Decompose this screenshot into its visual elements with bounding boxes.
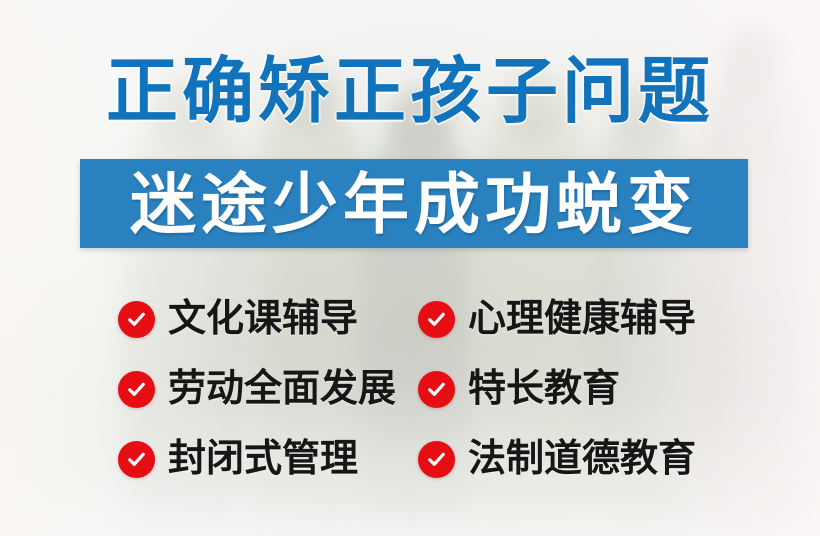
feature-label: 封闭式管理	[168, 440, 358, 478]
feature-item: 封闭式管理	[118, 440, 418, 478]
poster-content: 正确矫正孩子问题 迷途少年成功蜕变 文化课辅导 心理健康辅导	[0, 0, 820, 536]
feature-label: 法制道德教育	[468, 440, 696, 478]
feature-item: 特长教育	[418, 370, 728, 408]
check-circle-icon	[418, 441, 455, 478]
check-circle-icon	[418, 371, 455, 408]
feature-label: 心理健康辅导	[468, 300, 696, 338]
feature-label: 文化课辅导	[168, 300, 358, 338]
feature-item: 法制道德教育	[418, 440, 728, 478]
headline-primary: 正确矫正孩子问题	[0, 56, 820, 128]
headline-banner-text: 迷途少年成功蜕变	[130, 171, 698, 237]
check-circle-icon	[118, 371, 155, 408]
feature-list: 文化课辅导 心理健康辅导 劳动全面发展	[118, 284, 728, 494]
promo-poster: 正确矫正孩子问题 迷途少年成功蜕变 文化课辅导 心理健康辅导	[0, 0, 820, 536]
feature-label: 特长教育	[468, 370, 620, 408]
feature-label: 劳动全面发展	[168, 370, 396, 408]
headline-banner: 迷途少年成功蜕变	[80, 159, 748, 248]
check-circle-icon	[118, 301, 155, 338]
feature-item: 文化课辅导	[118, 300, 418, 338]
check-circle-icon	[118, 441, 155, 478]
feature-item: 劳动全面发展	[118, 370, 418, 408]
feature-item: 心理健康辅导	[418, 300, 728, 338]
check-circle-icon	[418, 301, 455, 338]
